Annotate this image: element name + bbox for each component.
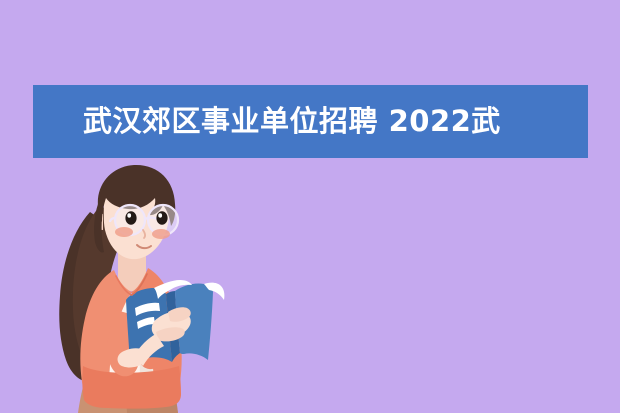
blush-left [115,227,133,237]
eye-right [156,211,167,225]
eye-right-glint [158,213,162,217]
page-title: 武汉郊区事业单位招聘 2022武 [33,107,501,136]
eye-left-glint [127,213,131,217]
woman-reading-book-illustration [30,160,260,413]
blush-right [152,229,170,239]
title-banner: 武汉郊区事业单位招聘 2022武 [33,85,588,158]
screenshot-canvas: 武汉郊区事业单位招聘 2022武 [0,0,620,413]
eye-left [125,211,136,225]
